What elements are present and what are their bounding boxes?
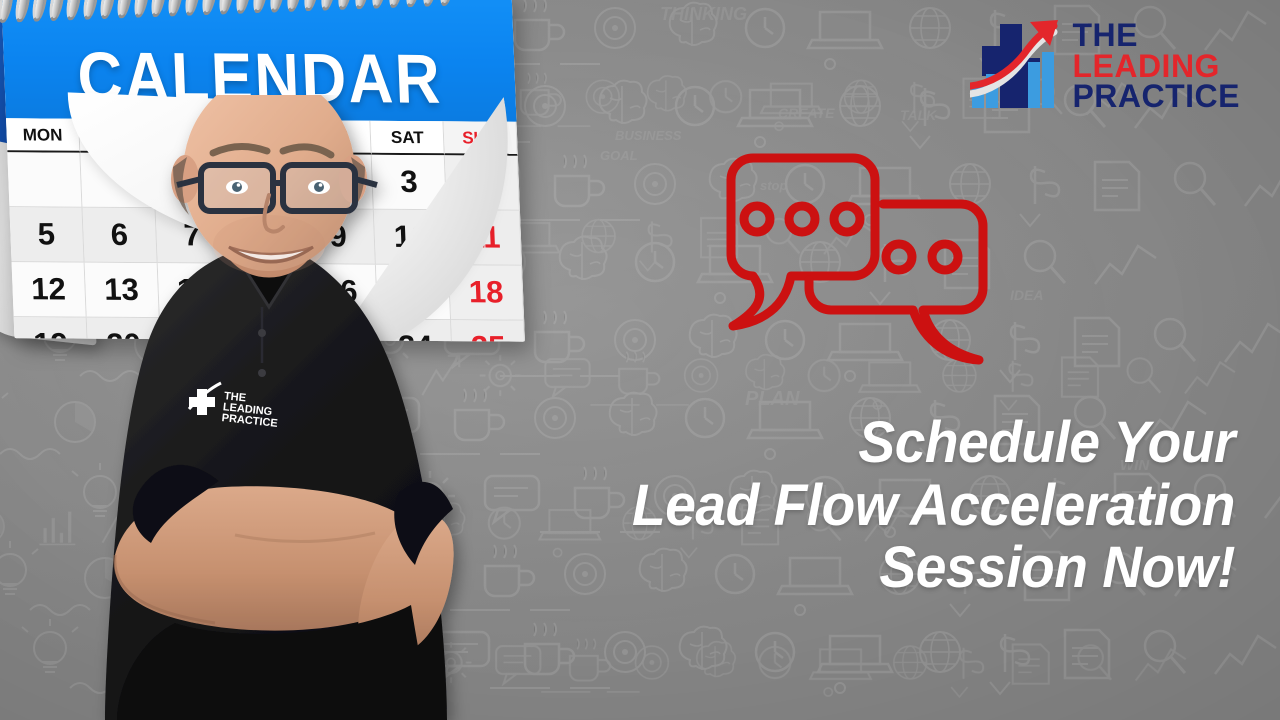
- svg-text:CREATE: CREATE: [778, 105, 835, 121]
- brand-logo[interactable]: THE LEADING PRACTICE: [970, 18, 1240, 114]
- brand-wordmark: THE LEADING PRACTICE: [1072, 20, 1240, 112]
- svg-text:TALK: TALK: [900, 107, 937, 123]
- headline: Schedule Your Lead Flow Acceleration Ses…: [513, 412, 1235, 600]
- logo-text-practice: PRACTICE: [1072, 81, 1240, 112]
- presenter-photo: THE LEADING PRACTICE: [55, 95, 485, 720]
- promo-banner: THINKING CREATE TALK IDEA PLAN stop BUSI…: [0, 0, 1280, 720]
- svg-text:IDEA: IDEA: [1010, 287, 1043, 303]
- headline-line-3: Session Now!: [513, 537, 1235, 600]
- svg-text:THINKING: THINKING: [660, 4, 747, 24]
- svg-text:BUSINESS: BUSINESS: [615, 128, 682, 143]
- headline-line-1: Schedule Your: [513, 412, 1235, 475]
- headline-line-2: Lead Flow Acceleration: [513, 475, 1235, 538]
- logo-text-the: THE: [1072, 20, 1240, 51]
- two-speech-bubbles-icon: [705, 152, 995, 397]
- bar-chart-arrow-logo-mark: [970, 18, 1062, 114]
- logo-text-leading: LEADING: [1072, 51, 1240, 82]
- svg-text:GOAL: GOAL: [600, 148, 638, 163]
